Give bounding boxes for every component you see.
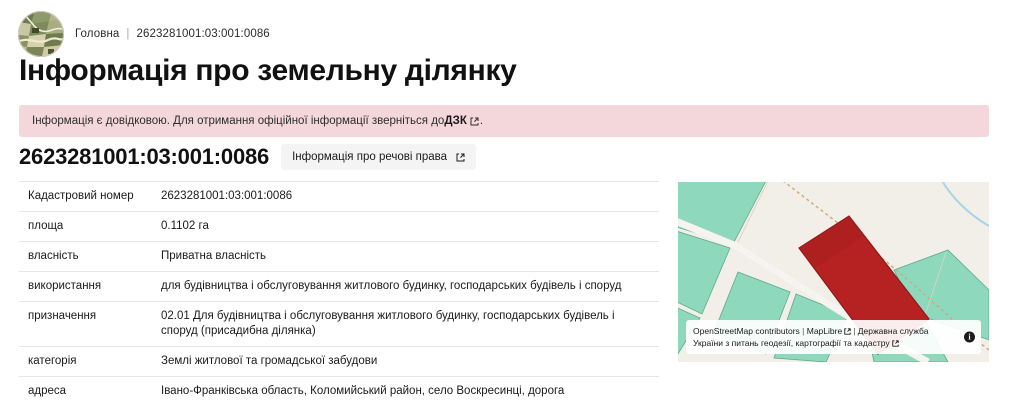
row-label: призначення — [19, 302, 161, 347]
parcel-info-table-body: Кадастровий номер 2623281001:03:001:0086… — [19, 182, 659, 402]
breadcrumb-current: 2623281001:03:001:0086 — [137, 28, 270, 40]
external-link-icon — [456, 153, 465, 162]
table-row: площа 0.1102 га — [19, 212, 659, 242]
row-value: Землі житлової та громадської забудови — [161, 347, 659, 377]
attribution-separator: | — [802, 326, 804, 336]
row-label: використання — [19, 272, 161, 302]
alert-text-before: Інформація є довідковою. Для отримання о… — [32, 114, 444, 129]
table-row: призначення 02.01 Для будівництва і обсл… — [19, 302, 659, 347]
table-row: адреса Івано-Франківська область, Коломи… — [19, 377, 659, 402]
cadastre-number: 2623281001:03:001:0086 — [19, 144, 269, 170]
breadcrumb-trail: Головна | 2623281001:03:001:0086 — [75, 28, 270, 40]
breadcrumb: Головна | 2623281001:03:001:0086 — [18, 11, 270, 57]
row-value: 2623281001:03:001:0086 — [161, 182, 659, 212]
breadcrumb-home-link[interactable]: Головна — [75, 28, 119, 40]
parcel-map[interactable]: OpenStreetMap contributors | MapLibre | … — [678, 182, 989, 362]
parcel-info-table: Кадастровий номер 2623281001:03:001:0086… — [19, 181, 659, 402]
map-info-icon[interactable]: i — [964, 332, 975, 343]
breadcrumb-separator: | — [126, 28, 129, 40]
row-label: адреса — [19, 377, 161, 402]
land-parcel-info-page: Головна | 2623281001:03:001:0086 Інформа… — [0, 0, 1024, 402]
table-row: використання для будівництва і обслугову… — [19, 272, 659, 302]
alert-dzk-link[interactable]: ДЗК — [444, 114, 467, 129]
row-label: Кадастровий номер — [19, 182, 161, 212]
row-value: 02.01 Для будівництва і обслуговування ж… — [161, 302, 659, 347]
row-value: 0.1102 га — [161, 212, 659, 242]
attribution-separator: | — [853, 326, 855, 336]
maplibre-attribution-link[interactable]: MapLibre — [807, 326, 842, 336]
info-alert-banner: Інформація є довідковою. Для отримання о… — [19, 105, 989, 137]
page-title: Інформація про земельну ділянку — [19, 53, 517, 89]
osm-attribution-link[interactable]: OpenStreetMap contributors — [693, 326, 800, 336]
row-value: Івано-Франківська область, Коломийський … — [161, 377, 659, 402]
alert-text-after: . — [480, 114, 483, 129]
map-attribution: OpenStreetMap contributors | MapLibre | … — [686, 320, 981, 354]
cadastral-map-logo-icon[interactable] — [18, 11, 64, 57]
table-row: категорія Землі житлової та громадської … — [19, 347, 659, 377]
row-label: площа — [19, 212, 161, 242]
property-rights-button[interactable]: Інформація про речові права — [281, 144, 476, 170]
row-label: категорія — [19, 347, 161, 377]
table-row: власність Приватна власність — [19, 242, 659, 272]
row-value: Приватна власність — [161, 242, 659, 272]
external-link-icon — [470, 117, 479, 126]
cadastre-heading-row: 2623281001:03:001:0086 Інформація про ре… — [19, 144, 476, 170]
external-link-icon — [892, 340, 899, 347]
row-value: для будівництва і обслуговування житлово… — [161, 272, 659, 302]
row-label: власність — [19, 242, 161, 272]
property-rights-button-label: Інформація про речові права — [292, 150, 447, 164]
table-row: Кадастровий номер 2623281001:03:001:0086 — [19, 182, 659, 212]
external-link-icon — [844, 328, 851, 335]
